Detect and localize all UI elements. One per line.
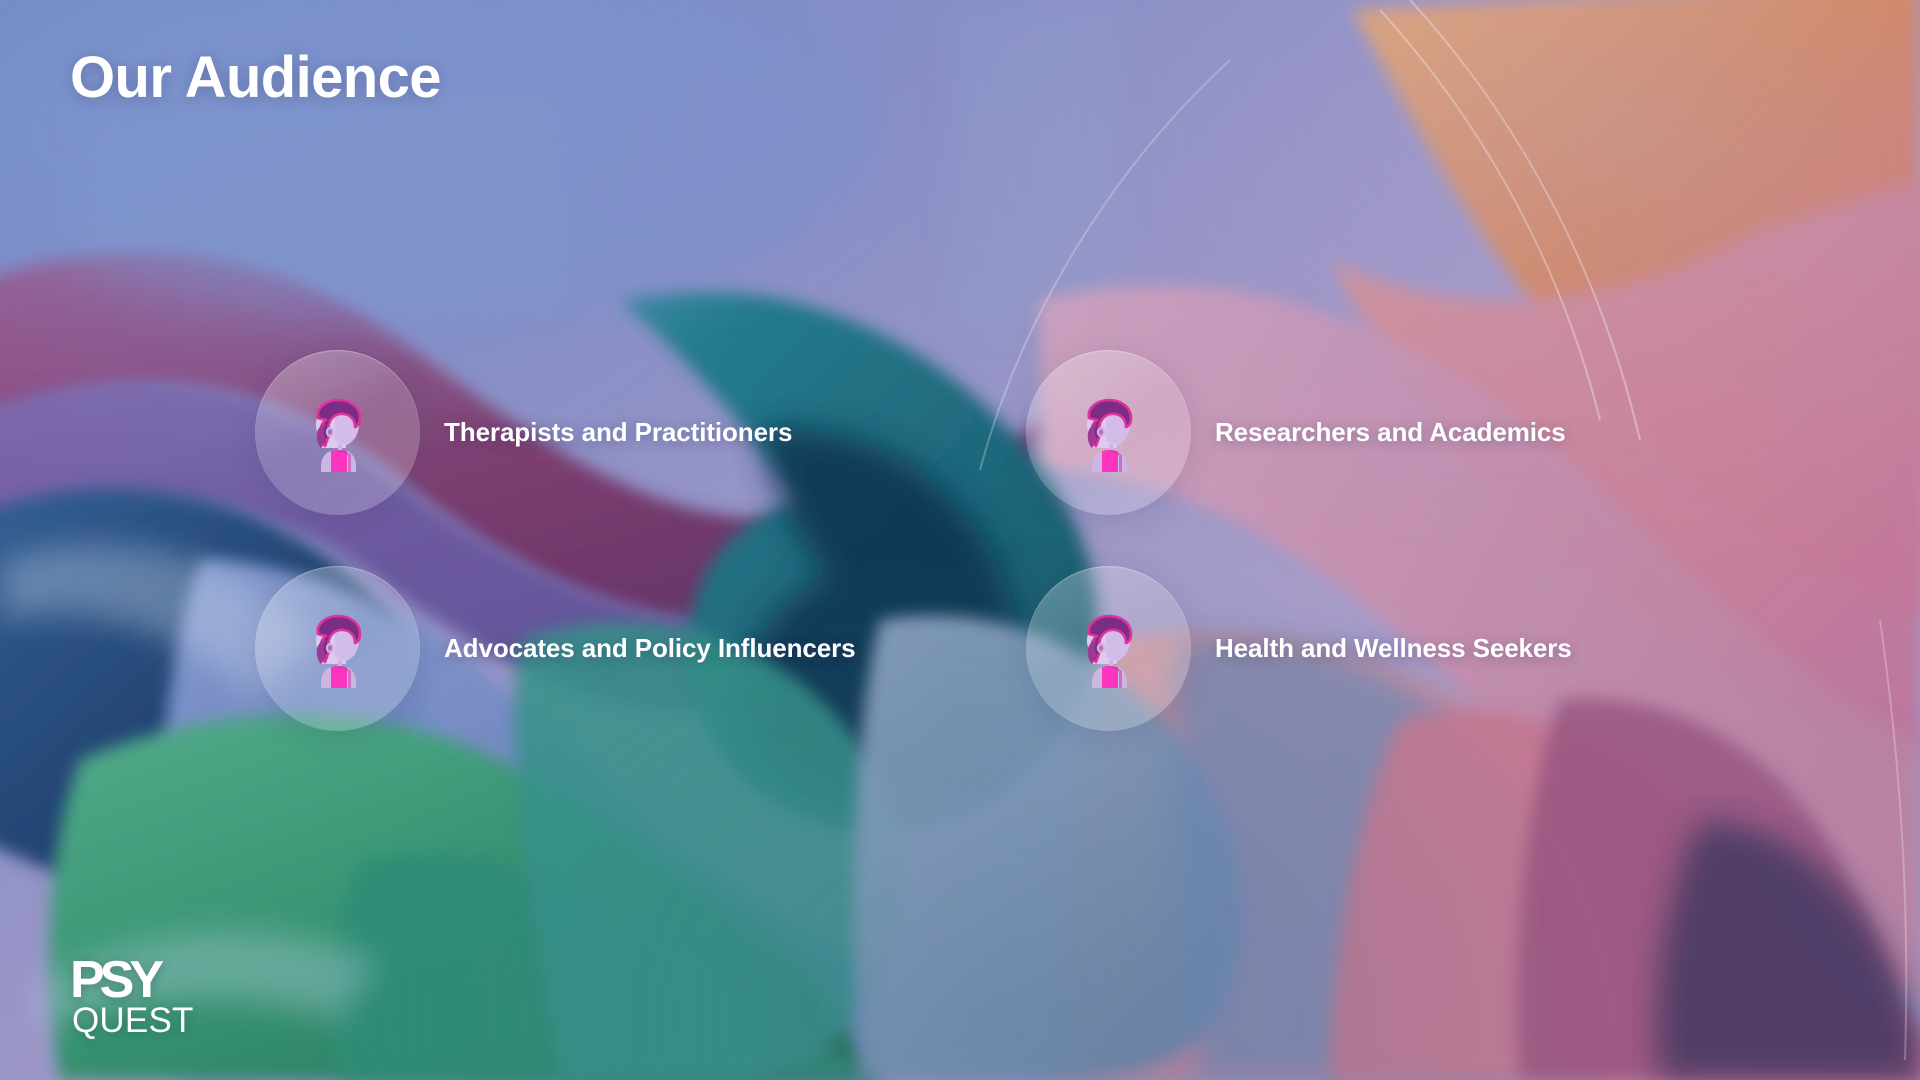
person-avatar-icon	[255, 566, 420, 731]
brand-logo-psy: PSY	[70, 954, 194, 1006]
audience-item-label: Advocates and Policy Influencers	[444, 633, 856, 664]
audience-item-health-seekers[interactable]: Health and Wellness Seekers	[1026, 566, 1572, 731]
audience-grid: Therapists and Practitioners	[0, 0, 1920, 1080]
person-avatar-icon	[1026, 566, 1191, 731]
slide-root: Our Audience	[0, 0, 1920, 1080]
audience-item-label: Researchers and Academics	[1215, 417, 1566, 448]
brand-logo: PSY QUEST	[70, 954, 194, 1038]
audience-item-label: Health and Wellness Seekers	[1215, 633, 1572, 664]
audience-item-label: Therapists and Practitioners	[444, 417, 792, 448]
slide-content: Our Audience	[0, 0, 1920, 1080]
audience-item-advocates[interactable]: Advocates and Policy Influencers	[255, 566, 856, 731]
audience-item-therapists[interactable]: Therapists and Practitioners	[255, 350, 792, 515]
brand-logo-quest: QUEST	[72, 1003, 194, 1038]
audience-item-researchers[interactable]: Researchers and Academics	[1026, 350, 1566, 515]
person-avatar-icon	[255, 350, 420, 515]
person-avatar-icon	[1026, 350, 1191, 515]
